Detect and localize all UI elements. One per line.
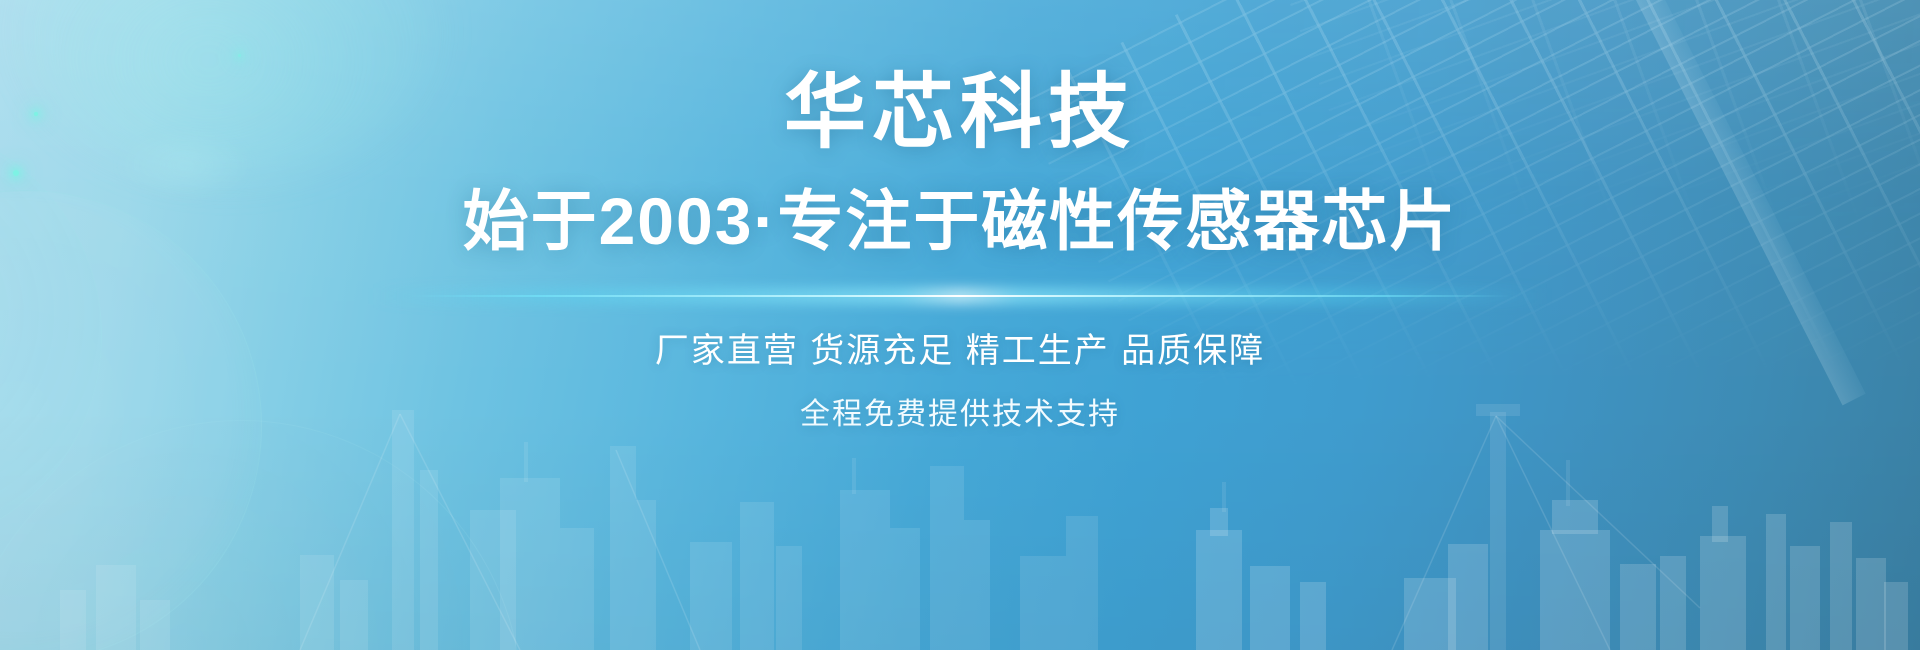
- glow-divider: [410, 288, 1510, 304]
- banner-support-note: 全程免费提供技术支持: [800, 400, 1120, 430]
- hero-banner: 华芯科技 始于2003·专注于磁性传感器芯片 厂家直营 货源充足 精工生产 品质…: [0, 0, 1920, 650]
- banner-features: 厂家直营 货源充足 精工生产 品质保障: [655, 334, 1265, 368]
- banner-subtitle: 始于2003·专注于磁性传感器芯片: [463, 188, 1458, 254]
- banner-content: 华芯科技 始于2003·专注于磁性传感器芯片 厂家直营 货源充足 精工生产 品质…: [0, 0, 1920, 650]
- glow-divider-beam: [410, 295, 1510, 297]
- page-title: 华芯科技: [784, 72, 1136, 154]
